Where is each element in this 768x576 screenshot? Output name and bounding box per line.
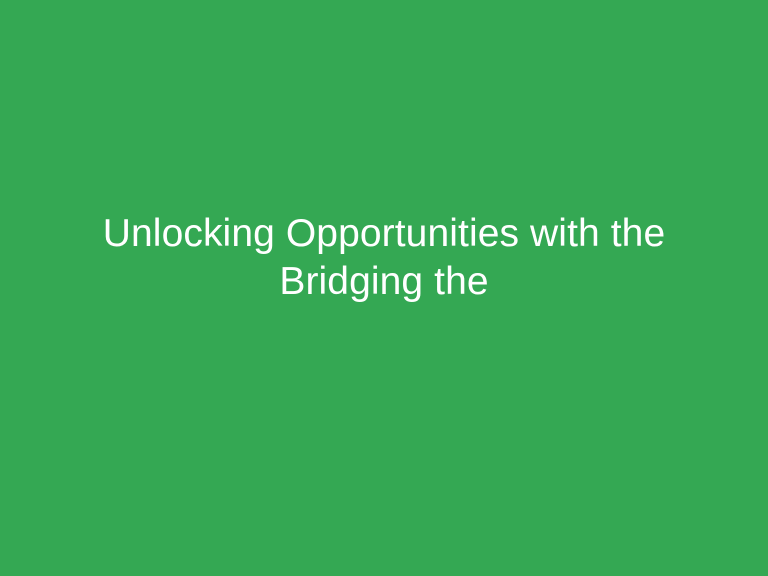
hero-card: Unlocking Opportunities with the Bridgin… [0, 0, 768, 576]
page-title-line-1: Unlocking Opportunities with the [74, 210, 694, 258]
page-title: Unlocking Opportunities with the Bridgin… [74, 210, 694, 306]
hero-title-block: Unlocking Opportunities with the Bridgin… [74, 210, 694, 306]
page-title-line-2: Bridging the [74, 258, 694, 306]
